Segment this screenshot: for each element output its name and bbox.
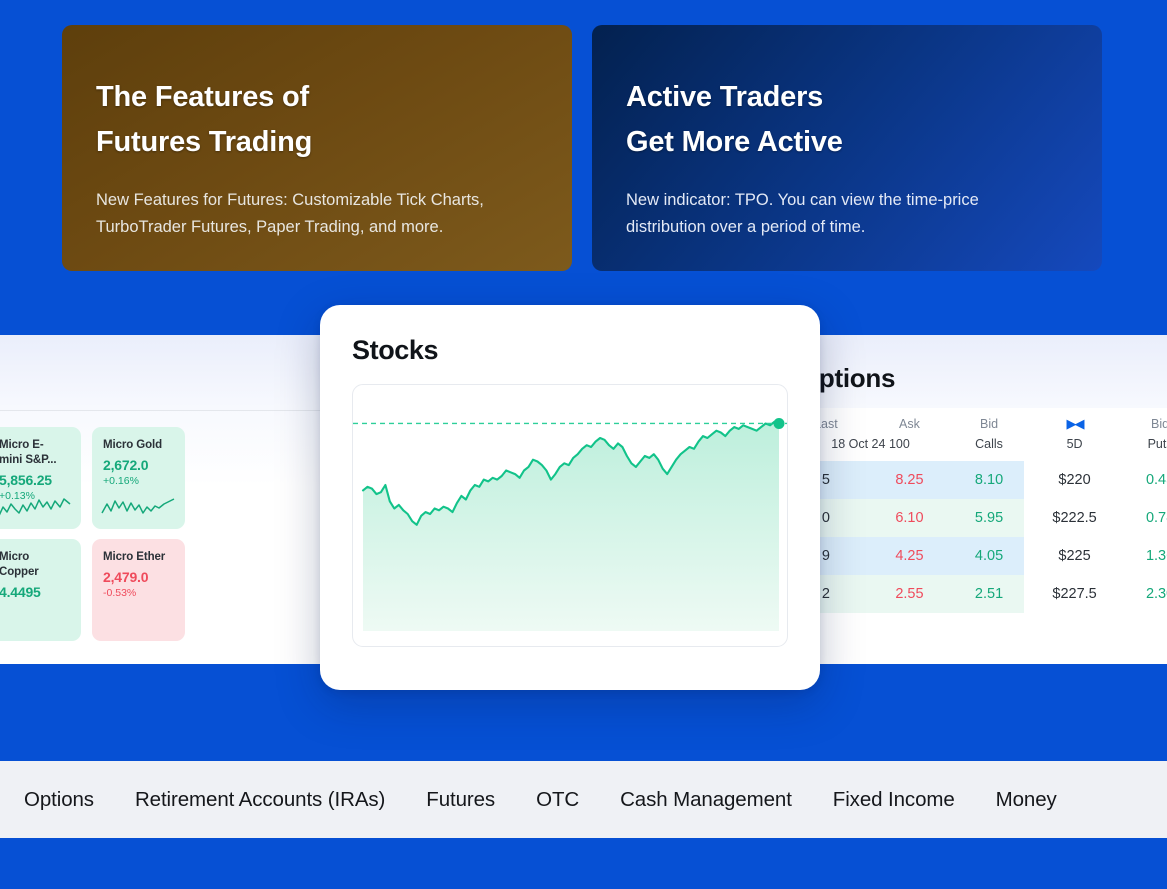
futures-card-change: +0.16% (103, 475, 175, 487)
cell-strike: $225 (1024, 537, 1125, 575)
stock-area-chart-svg (353, 385, 788, 647)
feature-card-body-line2: TurboTrader Futures, Paper Trading, and … (96, 218, 443, 236)
feature-card-title-line1: Active Traders (626, 81, 823, 113)
options-table-row[interactable]: 22.552.51$227.52.302.352.30 (787, 575, 1167, 613)
futures-card-name: Micro Ether (103, 550, 175, 565)
feature-card-body: New Features for Futures: Customizable T… (96, 187, 496, 240)
options-section-title: Options (777, 335, 1167, 394)
options-subheader-row: 18 Oct 24 100 Calls 5D Puts ^ (787, 435, 1167, 461)
stocks-card-title: Stocks (352, 335, 788, 366)
options-section: Options Last Ask Bid ▶◀ Bid Ask Last 18 … (777, 335, 1167, 664)
nav-link-fixed-income[interactable]: Fixed Income (833, 788, 955, 812)
cell-call-ask: 4.25 (865, 537, 954, 575)
futures-card-price: 5,856.25 (0, 472, 71, 488)
nav-link-money[interactable]: Money (996, 788, 1057, 812)
futures-section: Futures MicroNASDAQ20,411.50+0.29%Micro … (0, 335, 320, 664)
cell-call-bid: 4.05 (954, 537, 1024, 575)
futures-card-grid: MicroNASDAQ20,411.50+0.29%Micro E-mini S… (0, 411, 320, 641)
col-header-call-bid[interactable]: Bid (954, 408, 1024, 435)
futures-card-name: Micro Gold (103, 438, 175, 453)
cell-call-bid: 8.10 (954, 461, 1024, 499)
feature-card-futures[interactable]: The Features of Futures Trading New Feat… (62, 25, 572, 271)
nav-link-retirement-accounts-iras[interactable]: Retirement Accounts (IRAs) (135, 788, 385, 812)
futures-card[interactable]: MicroCopper4.4495 (0, 539, 81, 641)
options-header-row: Last Ask Bid ▶◀ Bid Ask Last (787, 408, 1167, 435)
feature-card-title-line1: The Features of (96, 81, 309, 113)
feature-card-title-line2: Futures Trading (96, 126, 312, 158)
futures-card[interactable]: Micro Gold2,672.0+0.16% (92, 427, 185, 529)
futures-card-price: 2,479.0 (103, 569, 175, 585)
nav-link-otc[interactable]: OTC (536, 788, 579, 812)
nav-link-cash-management[interactable]: Cash Management (620, 788, 792, 812)
nav-link-futures[interactable]: Futures (426, 788, 495, 812)
puts-label: Puts (1125, 435, 1167, 461)
sparkline-icon (100, 495, 176, 521)
options-table-row[interactable]: 94.254.05$2251.361.401.38 (787, 537, 1167, 575)
cell-call-ask: 8.25 (865, 461, 954, 499)
bottom-nav: OptionsRetirement Accounts (IRAs)Futures… (0, 761, 1167, 838)
nav-link-options[interactable]: Options (24, 788, 94, 812)
cell-strike: $227.5 (1024, 575, 1125, 613)
futures-card-name: Micro E-mini S&P... (0, 438, 71, 468)
feature-card-title: The Features of Futures Trading (96, 75, 538, 165)
cell-call-bid: 5.95 (954, 499, 1024, 537)
feature-card-body-line1: New indicator: TPO. You can view the tim… (626, 191, 979, 209)
feature-card-body-line2: distribution over a period of time. (626, 218, 865, 236)
futures-card-price: 2,672.0 (103, 457, 175, 473)
options-rows-body: 58.258.10$2200.450.460.4606.105.95$222.5… (787, 461, 1167, 613)
futures-section-title: Futures (0, 335, 320, 394)
cell-put-bid: 0.45 (1125, 461, 1167, 499)
area-fill (363, 422, 779, 631)
feature-card-active-traders[interactable]: Active Traders Get More Active New indic… (592, 25, 1102, 271)
futures-card-name: MicroCopper (0, 550, 71, 580)
feature-card-title-line2: Get More Active (626, 126, 843, 158)
calls-label: Calls (954, 435, 1024, 461)
cell-put-bid: 2.30 (1125, 575, 1167, 613)
cell-call-ask: 2.55 (865, 575, 954, 613)
sparkline-icon (0, 495, 72, 521)
options-table-row[interactable]: 58.258.10$2200.450.460.46 (787, 461, 1167, 499)
options-table-row[interactable]: 06.105.95$222.50.780.810.78 (787, 499, 1167, 537)
span-label: 5D (1024, 435, 1125, 461)
feature-card-title: Active Traders Get More Active (626, 75, 1068, 165)
options-chain-table: Last Ask Bid ▶◀ Bid Ask Last 18 Oct 24 1… (787, 408, 1167, 613)
cell-call-ask: 6.10 (865, 499, 954, 537)
cell-call-bid: 2.51 (954, 575, 1024, 613)
col-header-call-ask[interactable]: Ask (865, 408, 954, 435)
futures-card-change: -0.53% (103, 587, 175, 599)
cell-put-bid: 1.36 (1125, 537, 1167, 575)
futures-card[interactable]: Micro E-mini S&P...5,856.25+0.13% (0, 427, 81, 529)
stocks-chart[interactable] (352, 384, 788, 647)
feature-card-body: New indicator: TPO. You can view the tim… (626, 187, 1026, 240)
cell-strike: $220 (1024, 461, 1125, 499)
cell-put-bid: 0.78 (1125, 499, 1167, 537)
stocks-card[interactable]: Stocks (320, 305, 820, 690)
feature-card-body-line1: New Features for Futures: Customizable T… (96, 191, 484, 209)
futures-card[interactable]: Micro Ether2,479.0-0.53% (92, 539, 185, 641)
last-price-marker (774, 418, 785, 429)
col-header-put-bid[interactable]: Bid (1125, 408, 1167, 435)
futures-card-price: 4.4495 (0, 584, 71, 600)
cell-strike: $222.5 (1024, 499, 1125, 537)
feature-cards-row: The Features of Futures Trading New Feat… (62, 25, 1102, 271)
strike-divider-icon[interactable]: ▶◀ (1024, 408, 1125, 435)
